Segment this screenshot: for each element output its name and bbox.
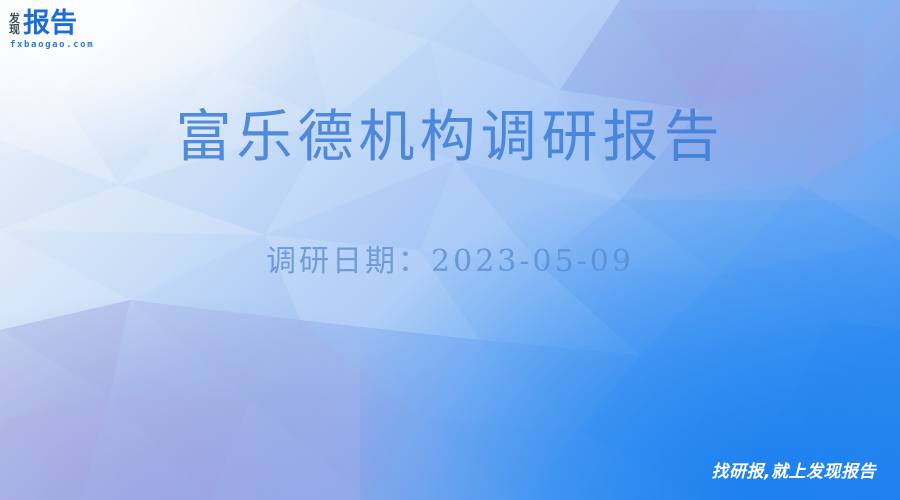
logo-mark-char-bottom: 现 xyxy=(9,24,20,35)
report-title: 富乐德机构调研报告 xyxy=(0,92,900,173)
logo-wordmark-row: 发 现 报告 xyxy=(9,7,94,37)
report-cover-slide: 发 现 报告 fxbaogao.com 富乐德机构调研报告 调研日期：2023-… xyxy=(0,0,900,500)
logo-url: fxbaogao.com xyxy=(10,40,94,50)
report-survey-date: 调研日期：2023-05-09 xyxy=(0,236,900,280)
site-logo[interactable]: 发 现 报告 fxbaogao.com xyxy=(9,7,94,50)
logo-mark-stacked: 发 现 xyxy=(9,13,20,37)
footer-tagline: 找研报,就上发现报告 xyxy=(712,457,876,482)
logo-wordmark: 报告 xyxy=(23,10,77,37)
